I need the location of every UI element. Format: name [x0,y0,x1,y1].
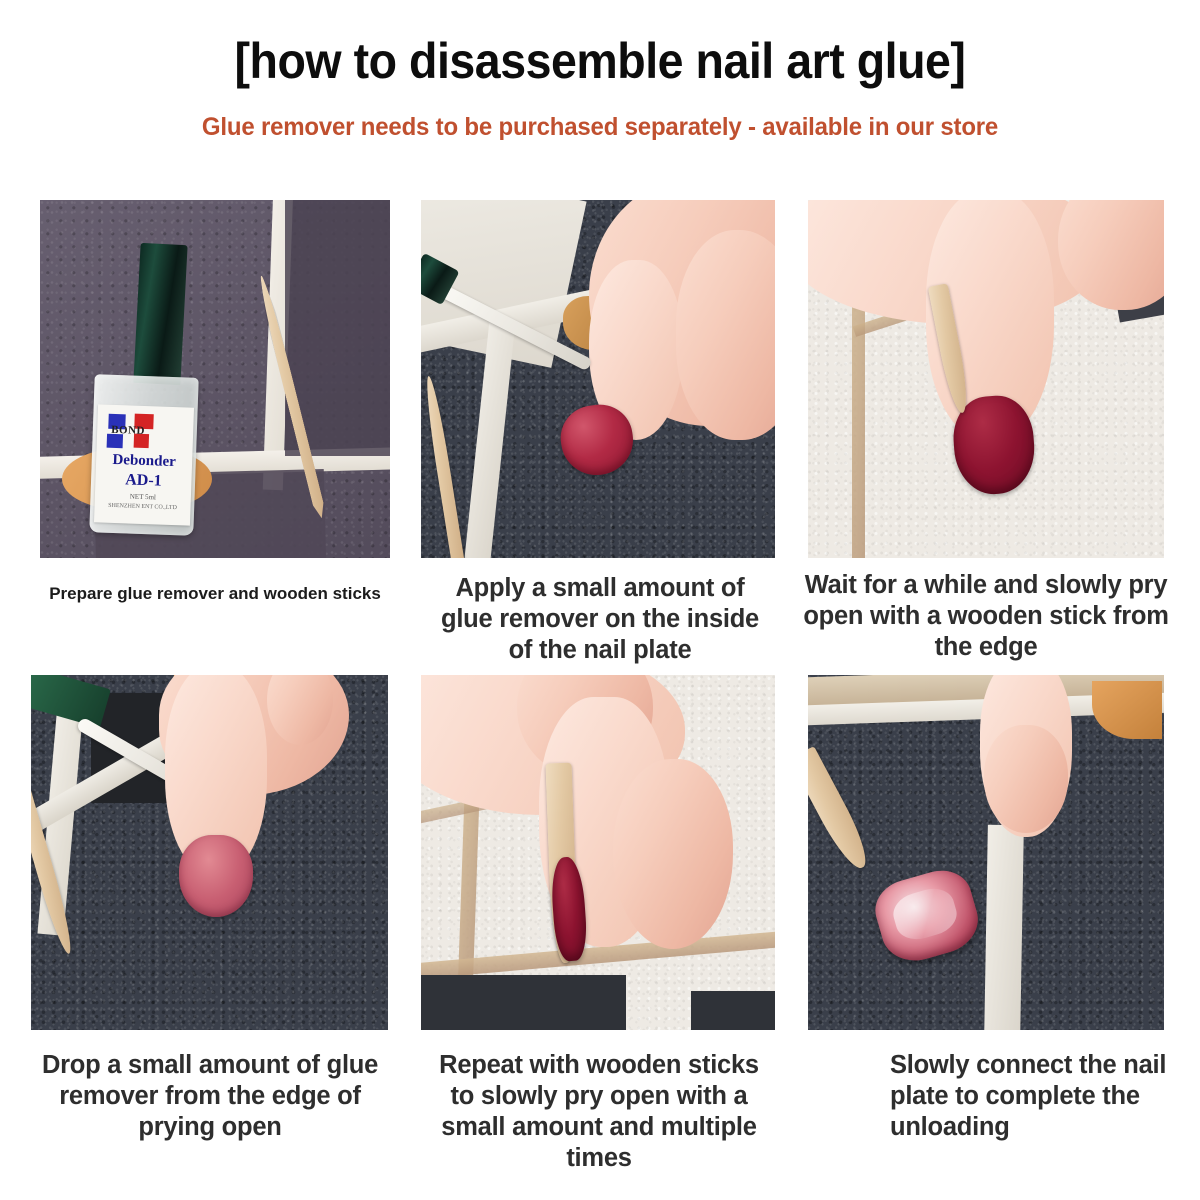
bottle-manufacturer: SHENZHEN ENT CO.,LTD [94,502,190,511]
photo-drop-remover-edge [31,675,388,1030]
step-caption-3: Wait for a while and slowly pry open wit… [800,570,1172,663]
page-title: [how to disassemble nail art glue] [42,32,1158,90]
step-image-3 [808,200,1164,558]
photo-glue-remover-bottle: BOND Debonder AD-1 NET 5ml SHENZHEN ENT … [40,200,390,558]
bottle-model: AD-1 [95,470,192,491]
bottle-product-name: Debonder [96,451,193,471]
photo-pry-open [808,200,1164,558]
step-caption-5: Repeat with wooden sticks to slowly pry … [424,1050,774,1174]
step-image-4 [31,675,388,1030]
step-caption-4: Drop a small amount of glue remover from… [32,1050,388,1143]
step-caption-1: Prepare glue remover and wooden sticks [40,584,390,605]
stripe-dark-bottom-left [421,975,626,1030]
bottle-label: BOND Debonder AD-1 NET 5ml SHENZHEN ENT … [94,404,194,525]
bottle-net-volume: NET 5ml [95,491,191,502]
bottle-brand-text: BOND [111,424,191,439]
step-caption-2: Apply a small amount of glue remover on … [430,573,770,666]
nail-pink [179,835,253,917]
infographic-page: [how to disassemble nail art glue] Glue … [0,0,1200,1200]
photo-detached-nail-plate [808,675,1164,1030]
bottle-cap [133,243,187,385]
photo-repeat-prying [421,675,775,1030]
fingertip [984,725,1068,833]
step-caption-6: Slowly connect the nail plate to complet… [890,1050,1180,1143]
step-image-6 [808,675,1164,1030]
step-image-2 [421,200,775,558]
step-image-1: BOND Debonder AD-1 NET 5ml SHENZHEN ENT … [40,200,390,558]
hand-knuckle [676,230,775,440]
stripe-white-vertical [984,825,1024,1030]
stripe-dark-bottom-right [691,991,775,1030]
step-image-5 [421,675,775,1030]
thumb [613,759,733,949]
page-subtitle: Glue remover needs to be purchased separ… [24,110,1176,144]
photo-apply-remover [421,200,775,558]
